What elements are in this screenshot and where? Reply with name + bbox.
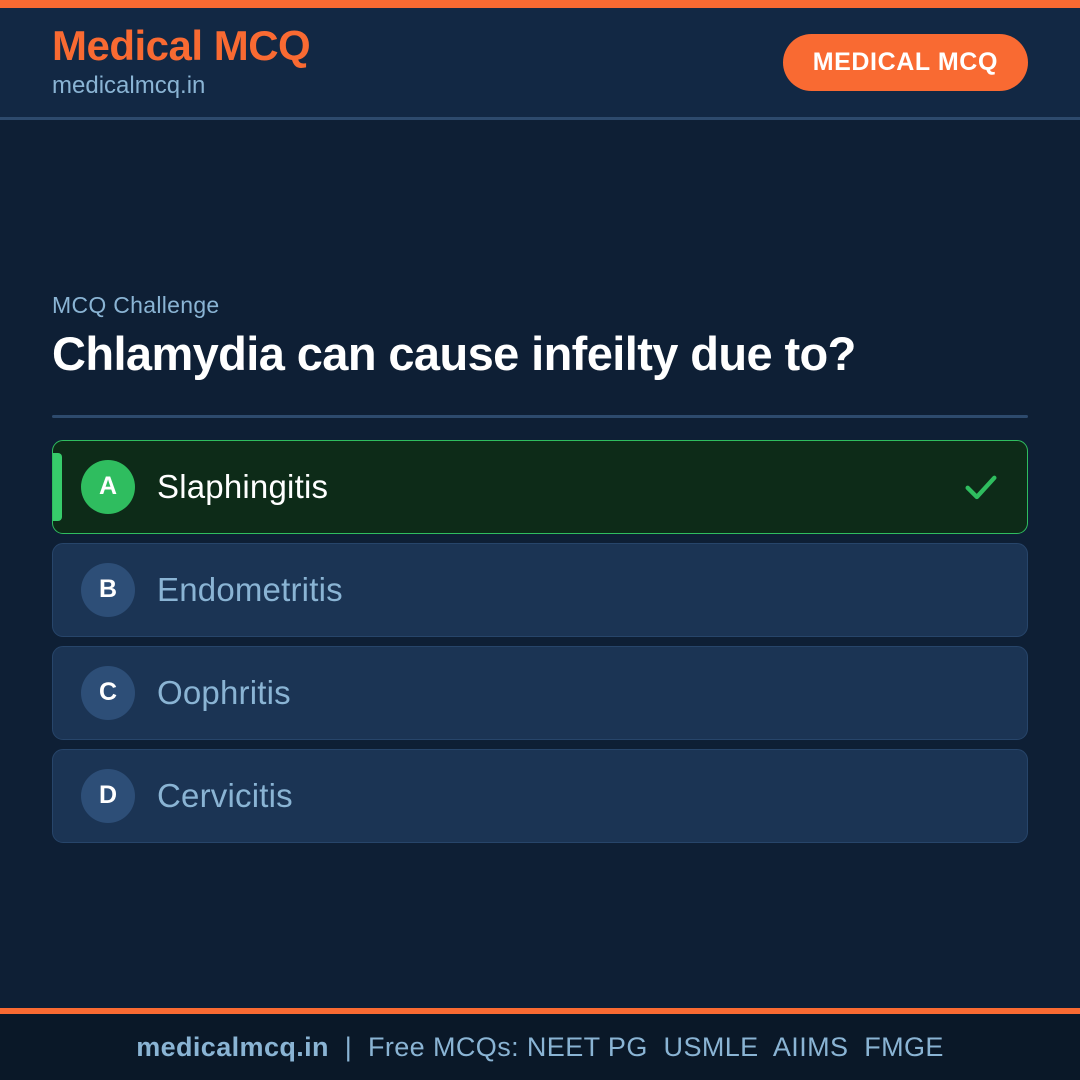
brand-url: medicalmcq.in [52, 70, 310, 101]
option-d[interactable]: D Cervicitis [52, 749, 1028, 843]
footer-site: medicalmcq.in [136, 1032, 329, 1063]
footer: medicalmcq.in | Free MCQs: NEET PG USMLE… [0, 1014, 1080, 1080]
header: Medical MCQ medicalmcq.in MEDICAL MCQ [0, 8, 1080, 120]
option-d-badge: D [81, 769, 135, 823]
option-c-badge: C [81, 666, 135, 720]
question-text: Chlamydia can cause infeilty due to? [52, 327, 1012, 382]
top-accent-bar [0, 0, 1080, 8]
brand-title: Medical MCQ [52, 24, 310, 68]
option-b-label: Endometritis [157, 571, 1001, 609]
options-list: A Slaphingitis B Endometritis C Oophriti… [52, 440, 1028, 843]
divider [52, 415, 1028, 418]
option-d-label: Cervicitis [157, 777, 1001, 815]
main-content: MCQ Challenge Chlamydia can cause infeil… [0, 120, 1080, 1008]
brand-block: Medical MCQ medicalmcq.in [52, 24, 310, 101]
option-c-label: Oophritis [157, 674, 1001, 712]
question-block: MCQ Challenge Chlamydia can cause infeil… [52, 292, 1028, 382]
option-a-label: Slaphingitis [157, 468, 961, 506]
footer-exams: NEET PG USMLE AIIMS FMGE [527, 1032, 944, 1063]
footer-separator: | [329, 1032, 368, 1063]
option-c[interactable]: C Oophritis [52, 646, 1028, 740]
check-icon [961, 467, 1001, 507]
option-a-badge: A [81, 460, 135, 514]
option-b-badge: B [81, 563, 135, 617]
footer-prefix: Free MCQs: [368, 1032, 527, 1063]
challenge-label: MCQ Challenge [52, 292, 1028, 319]
header-badge: MEDICAL MCQ [783, 34, 1028, 91]
mcq-card: Medical MCQ medicalmcq.in MEDICAL MCQ MC… [0, 0, 1080, 1080]
option-a[interactable]: A Slaphingitis [52, 440, 1028, 534]
option-b[interactable]: B Endometritis [52, 543, 1028, 637]
